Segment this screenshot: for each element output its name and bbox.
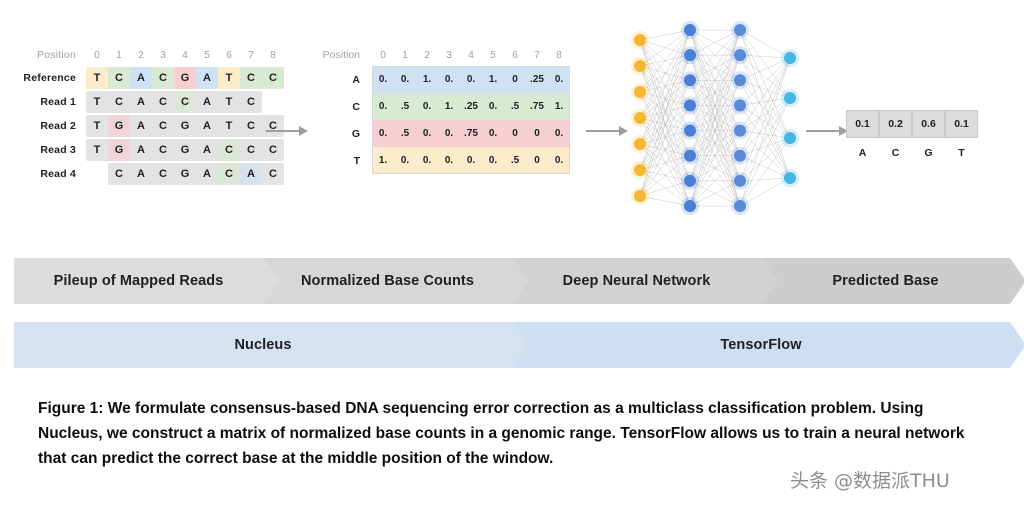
stage-chevron: Predicted Base [761, 258, 1010, 304]
pileup-row-label: Reference [18, 72, 86, 84]
arrow-network-to-prediction [806, 126, 848, 136]
matrix-position-0: 0 [372, 44, 394, 66]
network-edges [640, 30, 790, 206]
stage-chevron: Deep Neural Network [512, 258, 761, 304]
matrix-row-label-C: C [320, 101, 372, 113]
normalized-counts-panel: Position 012345678 A0.0.1.0.0.1.0.250.C0… [320, 44, 570, 174]
pileup-base-cell: C [152, 162, 174, 186]
prediction-base-label: C [879, 147, 912, 159]
matrix-row-label-A: A [320, 74, 372, 86]
pileup-base-cell: C [240, 66, 262, 90]
pileup-base-cell: C [152, 90, 174, 114]
pileup-row-track: TGACGATCC [86, 114, 286, 138]
stage-chevron: TensorFlow [512, 322, 1010, 368]
network-node-hidden-layer-1 [684, 175, 696, 187]
pileup-base-cell: T [218, 114, 240, 138]
matrix-position-8: 8 [548, 44, 570, 66]
neural-network-svg [628, 18, 808, 218]
pileup-base-cell: T [218, 90, 240, 114]
network-node-hidden-layer-2 [734, 74, 746, 86]
network-node-hidden-layer-1 [684, 200, 696, 212]
pileup-base-cell: T [218, 66, 240, 90]
pileup-position-1: 1 [108, 44, 130, 66]
pileup-rows: ReferenceTCACGATCCRead 1TCACCATCRead 2TG… [18, 66, 286, 186]
matrix-position-label: Position [320, 49, 372, 61]
chevron-label: Predicted Base [832, 273, 938, 289]
matrix-position-cells: 012345678 [372, 44, 570, 66]
prediction-base-label: T [945, 147, 978, 159]
pileup-row-label: Read 1 [18, 96, 86, 108]
arrow-head [619, 126, 628, 136]
network-node-hidden-layer-1 [684, 99, 696, 111]
pileup-base-cell: G [174, 162, 196, 186]
pileup-base-cell: T [86, 114, 108, 138]
pileup-row-track: CACGACAC [86, 162, 286, 186]
pileup-position-0: 0 [86, 44, 108, 66]
stage-chevron: Pileup of Mapped Reads [14, 258, 263, 304]
arrow-head [299, 126, 308, 136]
pileup-base-cell: A [196, 138, 218, 162]
network-node-hidden-layer-2 [734, 125, 746, 137]
pileup-base-cell: C [174, 90, 196, 114]
chevron-label: Deep Neural Network [563, 273, 711, 289]
network-node-output-layer [784, 92, 796, 104]
pileup-row-track: TCACGATCC [86, 66, 286, 90]
network-node-output-layer [784, 52, 796, 64]
stage-chevron: Normalized Base Counts [263, 258, 512, 304]
network-node-hidden-layer-1 [684, 150, 696, 162]
matrix-position-4: 4 [460, 44, 482, 66]
pileup-base-cell: A [130, 114, 152, 138]
network-node-input-layer [634, 164, 646, 176]
network-node-output-layer [784, 132, 796, 144]
pileup-row: Read 2TGACGATCC [18, 114, 286, 138]
prediction-panel: 0.10.20.60.1 ACGT [846, 110, 978, 159]
pileup-base-cell: A [130, 162, 152, 186]
pileup-row-label: Read 3 [18, 144, 86, 156]
network-node-hidden-layer-1 [684, 24, 696, 36]
pileup-position-5: 5 [196, 44, 218, 66]
network-node-input-layer [634, 34, 646, 46]
pileup-position-8: 8 [262, 44, 284, 66]
network-node-input-layer [634, 190, 646, 202]
chevron-label: Nucleus [234, 337, 291, 353]
pileup-position-6: 6 [218, 44, 240, 66]
pileup-base-cell: C [152, 66, 174, 90]
pileup-row-track: TGACGACCC [86, 138, 286, 162]
pileup-header-row: Position 012345678 [18, 44, 286, 66]
pileup-base-cell: A [130, 66, 152, 90]
pileup-base-cell: C [218, 162, 240, 186]
pileup-row-label: Read 4 [18, 168, 86, 180]
pileup-base-cell: G [108, 138, 130, 162]
network-node-input-layer [634, 112, 646, 124]
pileup-base-cell: A [196, 162, 218, 186]
pileup-base-cell: T [86, 90, 108, 114]
network-node-hidden-layer-2 [734, 99, 746, 111]
network-node-hidden-layer-1 [684, 74, 696, 86]
network-node-input-layer [634, 60, 646, 72]
prediction-value: 0.2 [879, 110, 912, 138]
pileup-base-cell: G [174, 66, 196, 90]
pileup-row: Read 3TGACGACCC [18, 138, 286, 162]
pileup-row: ReferenceTCACGATCC [18, 66, 286, 90]
pileup-position-track: 012345678 [86, 44, 286, 66]
pileup-base-cell: C [108, 90, 130, 114]
pileup-base-cell: G [108, 114, 130, 138]
matrix-row-label-T: T [320, 155, 372, 167]
prediction-value: 0.1 [945, 110, 978, 138]
matrix-border [372, 66, 570, 174]
network-node-hidden-layer-1 [684, 49, 696, 61]
arrow-line [266, 130, 299, 132]
network-node-hidden-layer-2 [734, 24, 746, 36]
prediction-base-label: G [912, 147, 945, 159]
figure-caption: Figure 1: We formulate consensus-based D… [38, 396, 988, 471]
prediction-values: 0.10.20.60.1 [846, 110, 978, 138]
pileup-row: Read 4CACGACAC [18, 162, 286, 186]
pileup-panel: Position 012345678 ReferenceTCACGATCCRea… [18, 44, 286, 186]
network-node-input-layer [634, 86, 646, 98]
prediction-base-label: A [846, 147, 879, 159]
network-node-hidden-layer-1 [684, 125, 696, 137]
pileup-base-cell: C [262, 66, 284, 90]
pileup-position-4: 4 [174, 44, 196, 66]
chevron-label: Normalized Base Counts [301, 273, 474, 289]
prediction-value: 0.1 [846, 110, 879, 138]
stage-chevron: Nucleus [14, 322, 512, 368]
matrix-row-label-G: G [320, 128, 372, 140]
neural-network-graphic [628, 18, 808, 218]
pileup-base-cell: C [240, 138, 262, 162]
arrow-line [806, 130, 839, 132]
prediction-value: 0.6 [912, 110, 945, 138]
pileup-base-cell: A [196, 114, 218, 138]
pileup-base-cell: G [174, 138, 196, 162]
network-node-output-layer [784, 172, 796, 184]
arrow-pileup-to-matrix [266, 126, 308, 136]
pileup-position-2: 2 [130, 44, 152, 66]
pileup-position-7: 7 [240, 44, 262, 66]
pileup-base-cell: A [130, 90, 152, 114]
network-node-hidden-layer-2 [734, 200, 746, 212]
pileup-base-cell: T [86, 66, 108, 90]
pileup-base-cell: C [152, 138, 174, 162]
pileup-base-cell: A [240, 162, 262, 186]
pileup-position-3: 3 [152, 44, 174, 66]
pileup-base-cell: A [130, 138, 152, 162]
pileup-row-track: TCACCATC [86, 90, 286, 114]
pileup-base-cell: A [196, 90, 218, 114]
matrix-position-6: 6 [504, 44, 526, 66]
network-node-input-layer [634, 138, 646, 150]
pileup-base-cell: G [174, 114, 196, 138]
pileup-base-cell: C [108, 162, 130, 186]
pileup-base-cell: C [262, 162, 284, 186]
network-node-hidden-layer-2 [734, 150, 746, 162]
pileup-base-cell: C [152, 114, 174, 138]
stage-band-gray: Pileup of Mapped ReadsNormalized Base Co… [14, 258, 1010, 304]
pileup-base-cell: C [218, 138, 240, 162]
network-node-hidden-layer-2 [734, 175, 746, 187]
pileup-base-cell: C [108, 66, 130, 90]
watermark: 头条 @数据派THU [790, 466, 950, 493]
pileup-base-cell: C [240, 90, 262, 114]
figure-page: Position 012345678 ReferenceTCACGATCCRea… [0, 0, 1024, 512]
matrix-header-row: Position 012345678 [320, 44, 570, 66]
matrix-position-5: 5 [482, 44, 504, 66]
chevron-label: TensorFlow [720, 337, 801, 353]
pileup-row-label: Read 2 [18, 120, 86, 132]
matrix-position-3: 3 [438, 44, 460, 66]
network-node-hidden-layer-2 [734, 49, 746, 61]
pileup-base-cell: T [86, 138, 108, 162]
pileup-base-cell: C [240, 114, 262, 138]
pileup-base-cell: A [196, 66, 218, 90]
pileup-row: Read 1TCACCATC [18, 90, 286, 114]
matrix-position-2: 2 [416, 44, 438, 66]
arrow-matrix-to-network [586, 126, 628, 136]
pileup-base-cell: C [262, 138, 284, 162]
stage-band-blue: NucleusTensorFlow [14, 322, 1010, 368]
pipeline-diagram: Position 012345678 ReferenceTCACGATCCRea… [0, 0, 1024, 240]
matrix-position-1: 1 [394, 44, 416, 66]
arrow-line [586, 130, 619, 132]
chevron-label: Pileup of Mapped Reads [54, 273, 224, 289]
pileup-position-label: Position [18, 49, 86, 61]
matrix-position-7: 7 [526, 44, 548, 66]
prediction-labels: ACGT [846, 147, 978, 159]
